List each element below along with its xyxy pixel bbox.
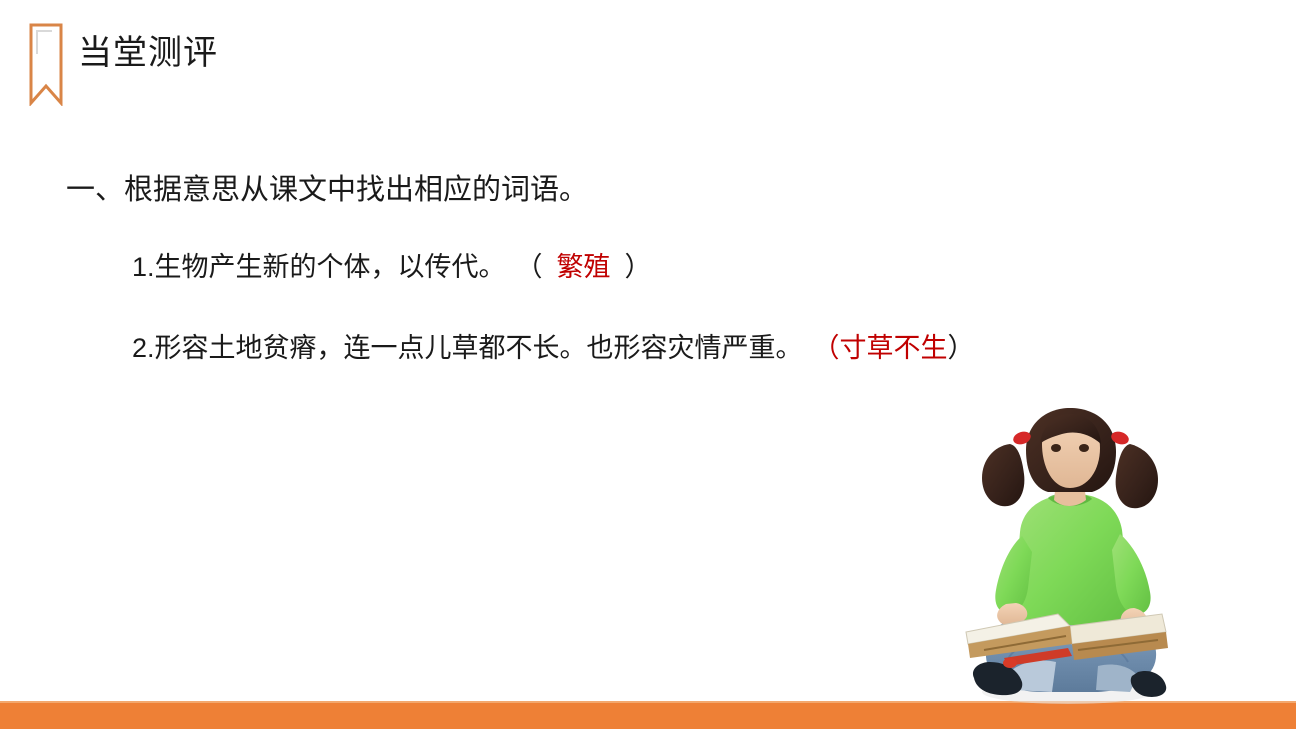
item-1-prompt: 生物产生新的个体，以传代。 bbox=[155, 252, 506, 282]
item-2-prompt: 形容土地贫瘠，连一点儿草都不长。也形容灾情严重。 bbox=[155, 333, 803, 363]
item-2-number: 2. bbox=[132, 333, 155, 363]
item-1-close-paren: ） bbox=[625, 252, 652, 282]
girl-reading-book-photo bbox=[948, 404, 1192, 724]
question-heading: 一、根据意思从课文中找出相应的词语。 bbox=[66, 166, 588, 208]
item-2-open-paren: （ bbox=[813, 333, 840, 363]
corner-accent-mark bbox=[36, 30, 52, 54]
item-1-open-paren: （ bbox=[516, 252, 543, 282]
item-2-close-paren: ） bbox=[948, 333, 975, 363]
question-item-1: 1.生物产生新的个体，以传代。（繁殖） bbox=[132, 245, 652, 284]
page-title: 当堂测评 bbox=[78, 35, 218, 72]
item-1-answer: 繁殖 bbox=[557, 252, 611, 282]
item-1-number: 1. bbox=[132, 252, 155, 282]
question-item-2: 2.形容土地贫瘠，连一点儿草都不长。也形容灾情严重。（寸草不生） bbox=[132, 326, 975, 365]
item-2-answer: 寸草不生 bbox=[840, 333, 948, 363]
slide-canvas: 当堂测评 一、根据意思从课文中找出相应的词语。 1.生物产生新的个体，以传代。（… bbox=[0, 0, 1296, 729]
